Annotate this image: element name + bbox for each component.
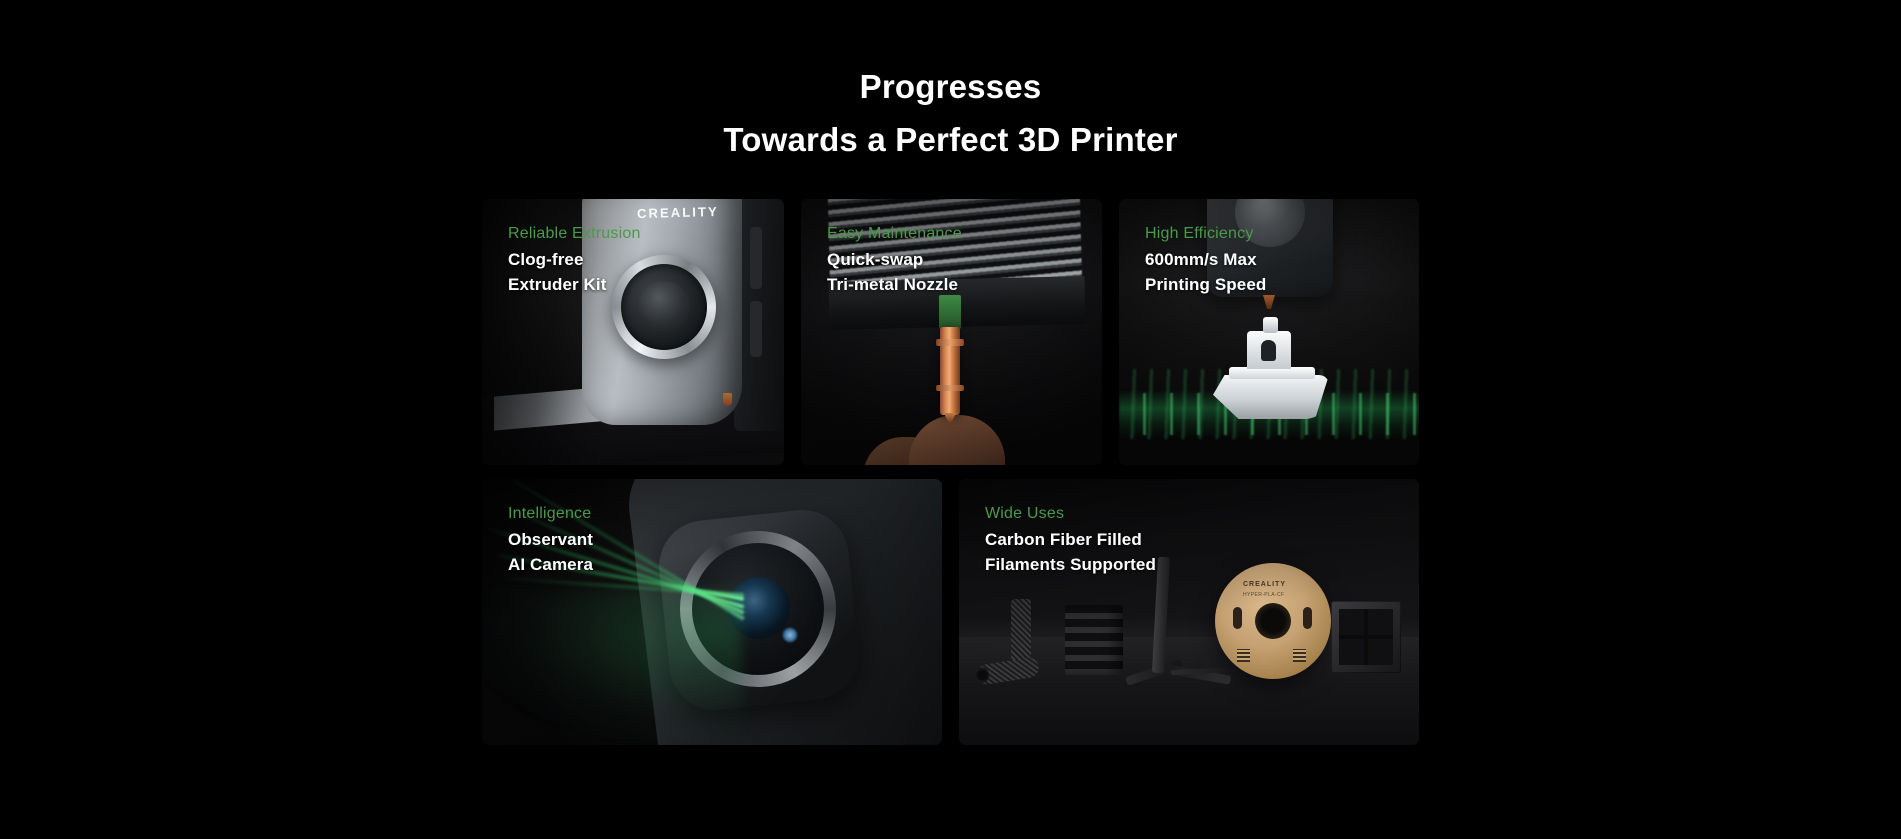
page-title: Progresses Towards a Perfect 3D Printer [0, 60, 1901, 166]
card-gradient-overlay [482, 199, 784, 465]
feature-row-top: CREALITY Reliable Extrusion Clog-free Ex… [482, 199, 1419, 465]
page-title-line-2: Towards a Perfect 3D Printer [0, 113, 1901, 166]
card-gradient-overlay [959, 479, 1419, 745]
feature-card-high-efficiency[interactable]: High Efficiency 600mm/s Max Printing Spe… [1119, 199, 1419, 465]
feature-card-reliable-extrusion[interactable]: CREALITY Reliable Extrusion Clog-free Ex… [482, 199, 784, 465]
green-indicator-chip [939, 295, 961, 329]
boat-window [1261, 340, 1276, 361]
creality-logo-text: CREALITY [637, 204, 719, 221]
page-title-line-1: Progresses [0, 60, 1901, 113]
feature-card-intelligence[interactable]: Intelligence Observant AI Camera [482, 479, 942, 745]
feature-row-bottom: Intelligence Observant AI Camera [482, 479, 1419, 745]
promo-page: Progresses Towards a Perfect 3D Printer … [0, 0, 1901, 839]
feature-card-wide-uses[interactable]: CREALITY HYPER-PLA-CF Wide Uses Carbon F… [959, 479, 1419, 745]
boat-hull [1213, 375, 1329, 419]
nozzle-collar-lower [936, 385, 964, 391]
benchy-boat-model [1207, 323, 1335, 419]
nozzle-collar-upper [936, 339, 964, 346]
feature-card-easy-maintenance[interactable]: Easy Maintenance Quick-swap Tri-metal No… [801, 199, 1102, 465]
feature-card-grid: CREALITY Reliable Extrusion Clog-free Ex… [482, 199, 1419, 745]
boat-chimney [1263, 317, 1278, 333]
camera-beam-glow [482, 589, 742, 739]
